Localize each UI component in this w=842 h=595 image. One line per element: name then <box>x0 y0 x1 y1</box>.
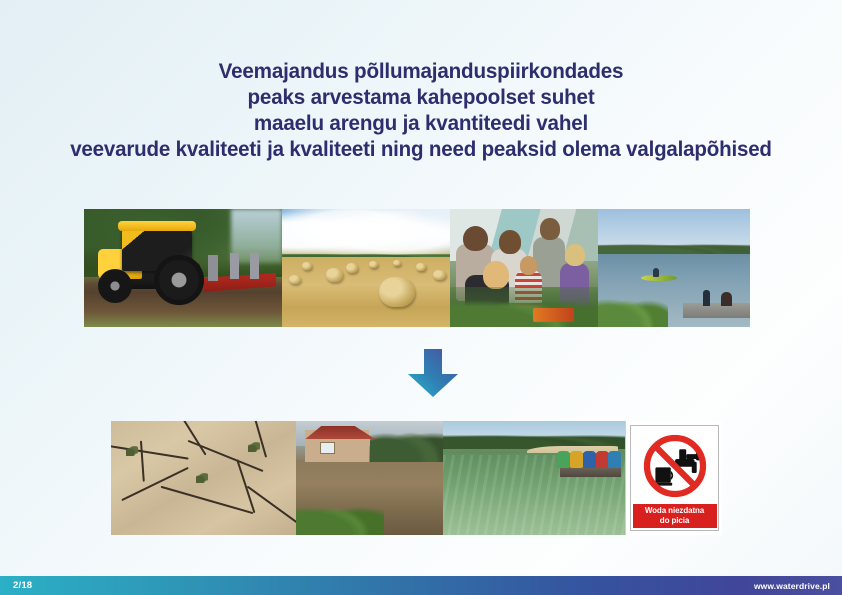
person-sitting <box>721 292 732 306</box>
soil-crack <box>161 485 254 513</box>
hay-bale <box>289 275 301 284</box>
hay-bale <box>369 261 378 268</box>
hay-bale-large <box>379 277 415 307</box>
title-line-4: veevarude kvaliteeti ja kvaliteeti ning … <box>19 136 823 162</box>
house-window <box>320 442 335 454</box>
slide-canvas: Veemajandus põllumajanduspiirkondades pe… <box>0 0 842 595</box>
reeds-foreground <box>598 287 668 327</box>
kayaker <box>653 268 659 277</box>
person-standing <box>703 290 710 306</box>
woman-head <box>483 261 510 289</box>
warning-sign-card: Woda niezdatna do picia <box>630 425 719 531</box>
photo-lake-recreation <box>598 209 750 327</box>
photo-family-outdoor-event <box>450 209 598 327</box>
positive-water-uses-photo-strip <box>84 209 750 327</box>
plough-disc-3 <box>250 253 259 279</box>
boat-dock <box>560 467 622 477</box>
grass-verge <box>296 496 384 535</box>
hay-bale <box>326 268 343 282</box>
hay-bale <box>346 263 358 273</box>
photo-cracked-dry-soil <box>111 421 296 535</box>
soil-crack <box>111 444 188 459</box>
photo-algae-bloom-lake <box>443 421 625 535</box>
plants-foreground <box>450 287 598 327</box>
warning-text-line-2: do picia <box>633 516 717 526</box>
soil-crack <box>122 466 189 500</box>
child-head <box>520 256 538 275</box>
page-number: 2/18 <box>0 580 32 591</box>
person-head <box>540 218 559 239</box>
dry-sprout <box>126 446 138 456</box>
pedal-boat <box>570 451 583 468</box>
water-problems-photo-strip: Woda niezdatna do picia <box>111 421 722 535</box>
footer-bar: 2/18 www.waterdrive.pl <box>0 576 842 595</box>
page-title: Veemajandus põllumajanduspiirkondades pe… <box>0 58 842 162</box>
tractor-roof <box>118 221 196 231</box>
photo-tractor-ploughing <box>84 209 282 327</box>
pedal-boat <box>608 451 621 468</box>
no-drinking-water-icon <box>640 431 710 501</box>
pedal-boat <box>583 451 596 468</box>
person-head <box>499 230 521 254</box>
hay-bale <box>393 260 401 266</box>
tractor-front-wheel <box>98 269 132 303</box>
village-trees <box>370 423 444 464</box>
plough-disc-1 <box>208 255 218 281</box>
warning-sign-banner: Woda niezdatna do picia <box>633 504 717 528</box>
pedal-boat <box>596 451 609 468</box>
soil-crack <box>140 440 145 481</box>
clouds <box>282 209 450 256</box>
child-head <box>565 244 584 265</box>
photo-no-drinking-water-sign: Woda niezdatna do picia <box>625 421 722 535</box>
down-arrow <box>405 347 461 399</box>
soil-crack <box>248 421 267 457</box>
title-line-1: Veemajandus põllumajanduspiirkondades <box>17 58 825 84</box>
tractor-rear-wheel <box>154 255 204 305</box>
dry-sprout <box>196 473 208 483</box>
title-line-2: peaks arvestama kahepoolset suhet <box>17 84 825 110</box>
hay-bale <box>302 262 312 270</box>
photo-hay-bales <box>282 209 450 327</box>
person-head <box>463 226 488 252</box>
dry-sprout <box>248 442 260 452</box>
title-line-3: maaelu arengu ja kvantiteedi vahel <box>17 110 825 136</box>
warning-text-line-1: Woda niezdatna <box>633 506 717 516</box>
website-link[interactable]: www.waterdrive.pl <box>754 581 842 591</box>
plough-disc-2 <box>230 253 239 279</box>
pier <box>683 303 750 317</box>
photo-flooded-village <box>296 421 443 535</box>
table-cloth <box>533 308 574 322</box>
pedal-boat <box>557 451 570 468</box>
soil-crack <box>175 421 206 455</box>
